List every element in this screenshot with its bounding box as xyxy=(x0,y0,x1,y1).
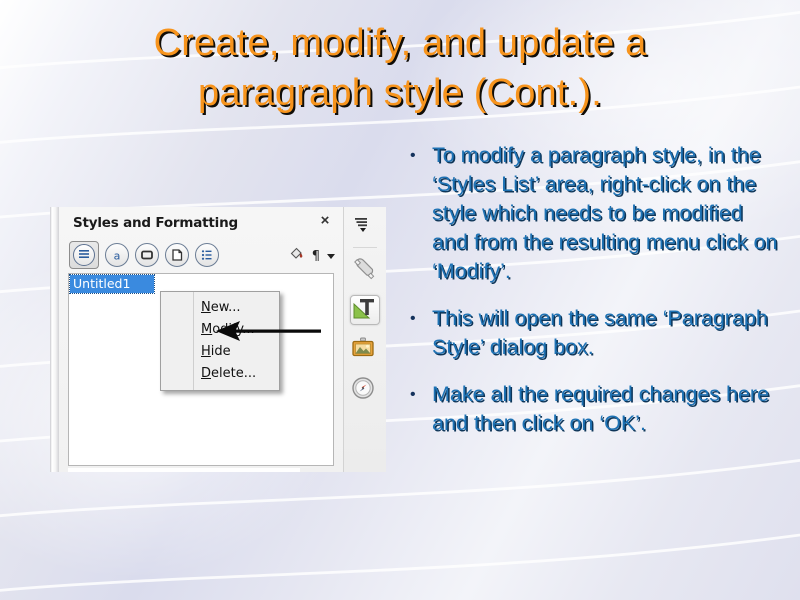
menu-item-label: elete... xyxy=(211,366,256,381)
list-bottom-fill xyxy=(68,468,300,472)
slide-title: Create, modify, and update a paragraph s… xyxy=(40,18,760,118)
character-styles-button[interactable]: a xyxy=(105,243,129,267)
list-item-selected[interactable]: Untitled1 xyxy=(70,275,154,293)
bullet-text: Make all the required changes here and t… xyxy=(432,380,781,438)
wrench-icon[interactable] xyxy=(350,255,380,285)
screenshot-image: Styles and Formatting × xyxy=(50,207,386,472)
svg-text:a: a xyxy=(114,250,121,263)
menu-accel-key: H xyxy=(201,344,211,359)
styles-and-formatting-icon[interactable] xyxy=(350,295,380,325)
panel-header: Styles and Formatting × xyxy=(59,207,343,241)
menu-item-delete[interactable]: Delete... xyxy=(161,363,279,385)
chevron-down-icon[interactable] xyxy=(327,254,335,259)
bullet-marker-icon: • xyxy=(406,141,432,170)
close-icon[interactable]: × xyxy=(317,213,333,229)
list-item: • Make all the required changes here and… xyxy=(406,380,781,438)
panel-title: Styles and Formatting xyxy=(73,215,238,231)
paragraph-styles-button[interactable] xyxy=(69,241,99,269)
menu-item-label: ide xyxy=(211,344,231,359)
bullet-text: To modify a paragraph style, in the ‘Sty… xyxy=(432,141,781,286)
slide: Create, modify, and update a paragraph s… xyxy=(0,0,800,600)
menu-accel-key: D xyxy=(201,366,211,381)
sidebar-settings-icon[interactable] xyxy=(350,213,380,243)
menu-item-label: ew... xyxy=(211,300,241,315)
list-item: • This will open the same ‘Paragraph Sty… xyxy=(406,304,781,362)
frame-styles-button[interactable] xyxy=(135,243,159,267)
menu-item-hide[interactable]: Hide xyxy=(161,341,279,363)
rail-divider xyxy=(353,247,377,248)
annotation-arrow-icon xyxy=(216,320,321,342)
bullet-list: • To modify a paragraph style, in the ‘S… xyxy=(406,141,781,456)
bullet-text: This will open the same ‘Paragraph Style… xyxy=(432,304,781,362)
page-styles-button[interactable] xyxy=(165,243,189,267)
gallery-icon[interactable] xyxy=(350,335,380,365)
sidebar-rail xyxy=(343,207,386,472)
list-item: • To modify a paragraph style, in the ‘S… xyxy=(406,141,781,286)
document-edge-strip xyxy=(50,207,59,472)
fill-format-mode-icon[interactable] xyxy=(288,245,305,267)
menu-item-new[interactable]: New... xyxy=(161,297,279,319)
bullet-marker-icon: • xyxy=(406,304,432,333)
navigator-compass-icon[interactable] xyxy=(350,375,380,405)
panel-toolbar: a xyxy=(59,241,343,271)
bullet-marker-icon: • xyxy=(406,380,432,409)
menu-accel-key: N xyxy=(201,300,211,315)
new-style-from-selection-icon[interactable]: ¶ xyxy=(312,249,320,264)
list-styles-button[interactable] xyxy=(195,243,219,267)
menu-accel-key: M xyxy=(201,322,212,337)
toolbar-right-group: ¶ xyxy=(288,245,335,267)
